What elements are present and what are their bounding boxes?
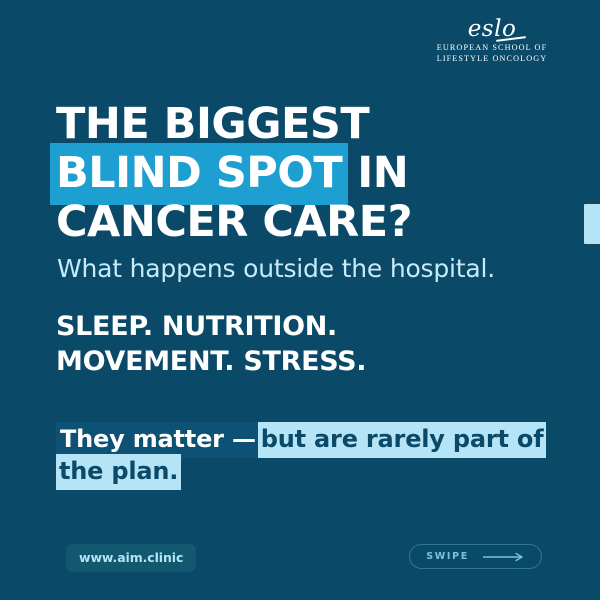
closing-statement: They matter —but are rarely part of the …: [56, 424, 556, 487]
swipe-label: SWIPE: [426, 551, 469, 562]
pillars-block: SLEEP. NUTRITION. MOVEMENT. STRESS.: [56, 310, 576, 379]
brand-wordmark: EUROPEAN SCHOOL OF LIFESTYLE ONCOLOGY: [402, 42, 582, 65]
brand-script-mark: eslo: [402, 18, 582, 41]
brand-wordmark-line-1: EUROPEAN SCHOOL OF: [402, 42, 582, 53]
closing-lead: They matter —: [56, 422, 258, 458]
edge-accent-tab: [582, 202, 600, 246]
social-card-slide: eslo EUROPEAN SCHOOL OF LIFESTYLE ONCOLO…: [0, 0, 600, 600]
pillars-line-1: SLEEP. NUTRITION.: [56, 310, 576, 345]
swipe-button[interactable]: SWIPE: [409, 544, 542, 569]
brand-wordmark-line-2: LIFESTYLE ONCOLOGY: [402, 53, 582, 64]
headline-line-2-rest: IN: [348, 148, 408, 198]
headline-line-1: THE BIGGEST: [56, 103, 576, 146]
brand-logo: eslo EUROPEAN SCHOOL OF LIFESTYLE ONCOLO…: [402, 18, 582, 65]
arrow-right-icon: [483, 552, 527, 562]
website-pill[interactable]: www.aim.clinic: [66, 544, 196, 572]
headline-line-2: BLIND SPOTIN: [50, 152, 576, 195]
headline-line-3: CANCER CARE?: [56, 201, 576, 244]
pillars-line-2: MOVEMENT. STRESS.: [56, 345, 576, 380]
subtitle-text: What happens outside the hospital.: [57, 254, 495, 283]
headline-block: THE BIGGEST BLIND SPOTIN CANCER CARE?: [56, 103, 576, 250]
headline-highlight-phrase: BLIND SPOT: [50, 143, 348, 205]
